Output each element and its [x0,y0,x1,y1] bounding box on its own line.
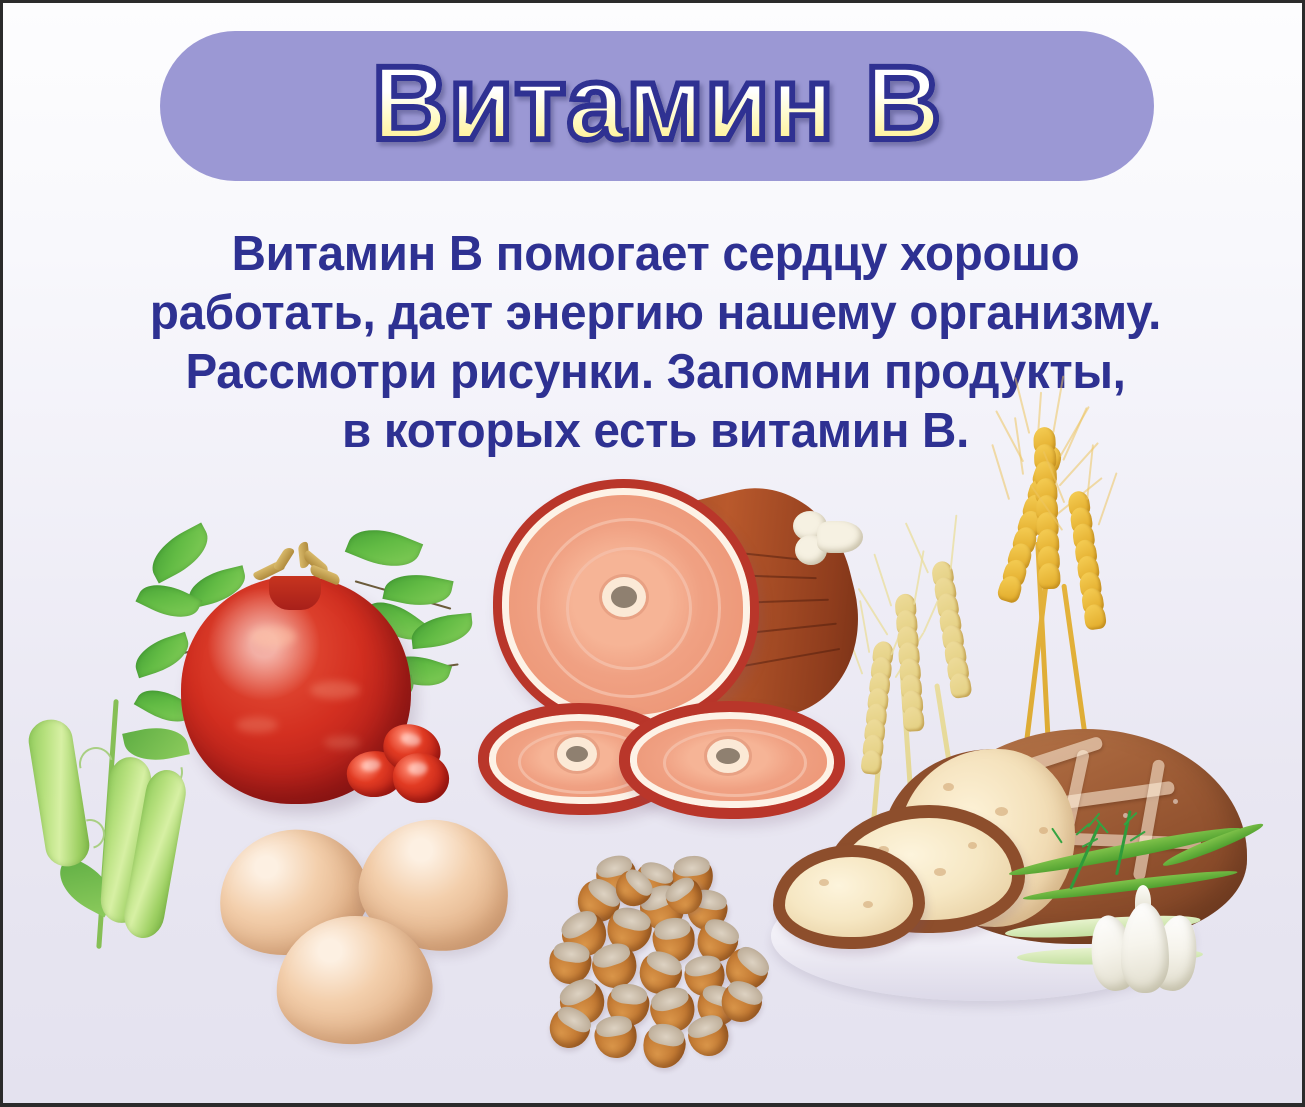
hazelnuts-illustration [549,858,789,1073]
pom-leaf-9 [410,613,475,649]
garlic-bulb [1091,891,1199,997]
pea-pod-1 [26,716,93,869]
pom-leaf-6 [345,518,423,578]
pomegranate-crown [253,550,339,598]
ham-cut-face [493,479,759,731]
page-title: Витамин В [372,51,942,156]
lead-line-3: Рассмотри рисунки. Запомни продукты, [71,343,1240,402]
lead-line-1: Витамин В помогает сердцу хорошо [71,225,1240,284]
pea-pods-illustration [13,691,208,966]
lead-line-2: работать, дает энергию нашему организму. [71,284,1240,343]
greens-illustration [1013,853,1273,1013]
pom-leaf-1 [143,522,217,583]
pomegranate-seeds [347,725,457,815]
vitamin-b-poster: Витамин В Витамин В помогает сердцу хоро… [0,0,1305,1107]
pomegranate-seed-3 [391,751,450,805]
pom-leaf-3 [135,574,202,627]
wheat-ear-3 [1055,488,1121,656]
ham-bone [793,507,865,571]
eggs-illustration [218,808,528,1058]
title-banner: Витамин В [160,31,1154,181]
bread-slice-2 [773,845,925,949]
